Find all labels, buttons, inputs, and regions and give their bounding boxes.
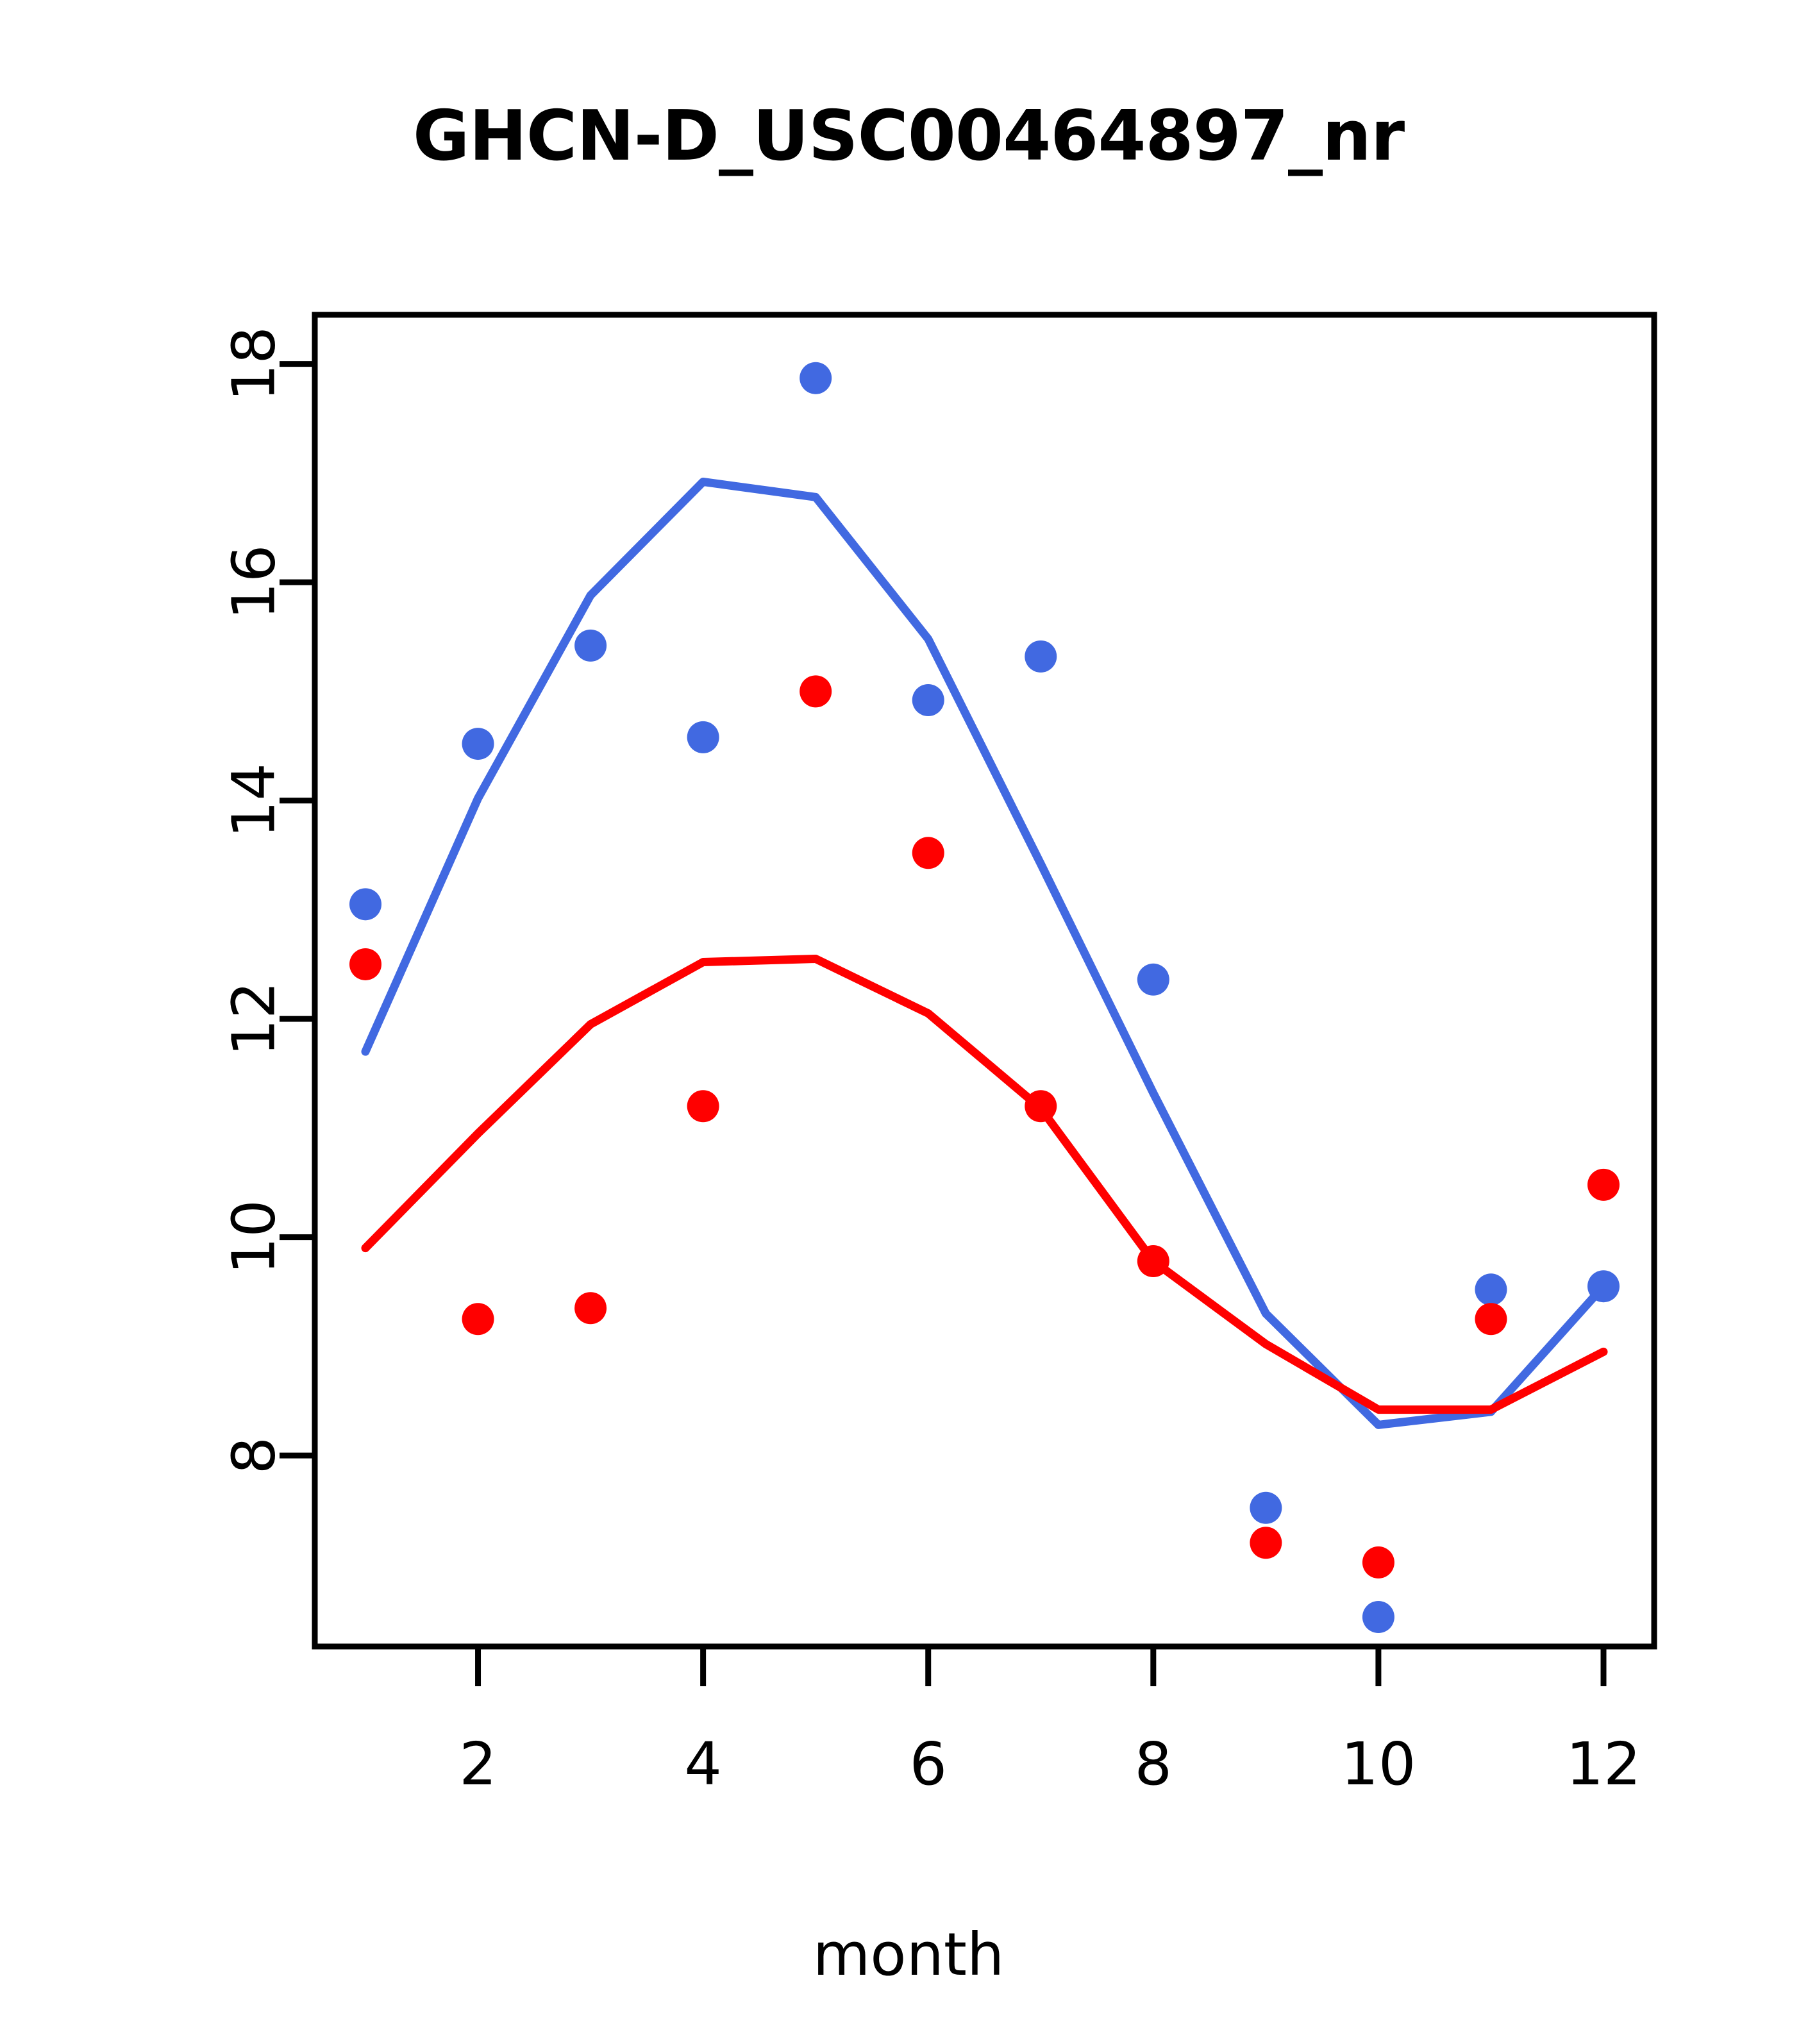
series-points [349,362,1620,1633]
data-point [349,948,381,980]
data-point [1250,1492,1282,1524]
data-point [349,888,381,920]
y-axis-tick-labels: 81012141618 [220,326,289,1474]
x-axis-ticks [478,1646,1603,1686]
data-point [574,1292,607,1324]
x-axis-tick-label: 12 [1566,1730,1641,1798]
x-axis-tick-label: 2 [459,1730,497,1798]
data-point [1137,1245,1169,1277]
data-point [1362,1546,1394,1579]
data-point [687,1090,719,1122]
data-point [800,362,832,394]
data-point [800,675,832,707]
data-point [574,630,607,662]
data-point [1025,1090,1057,1122]
data-point [1362,1601,1394,1633]
data-point [1475,1273,1507,1305]
x-axis-title: month [0,1920,1817,1989]
series-line-blue-line [365,482,1603,1425]
data-point [462,728,494,760]
chart-container: GHCN-D_USC00464897_nr 81012141618 246810… [0,0,1817,2044]
y-axis-tick-label: 16 [220,545,289,620]
x-axis-tick-label: 4 [684,1730,722,1798]
plot-svg: 81012141618 24681012 [0,0,1817,2044]
data-point [1025,641,1057,673]
plot-frame [315,315,1654,1646]
data-point [462,1303,494,1335]
data-point [1475,1303,1507,1335]
data-point [1250,1527,1282,1559]
series-line-red-line [365,959,1603,1409]
data-point [687,721,719,753]
y-axis-tick-label: 12 [220,982,289,1057]
data-point [1587,1270,1620,1302]
data-point [1137,964,1169,996]
y-axis-tick-label: 8 [220,1437,289,1475]
x-axis-tick-label: 10 [1341,1730,1416,1798]
data-point [912,837,944,869]
x-axis-tick-label: 8 [1135,1730,1173,1798]
y-axis-tick-label: 14 [220,763,289,838]
x-axis-tick-labels: 24681012 [459,1730,1641,1798]
data-point [1587,1169,1620,1201]
x-axis-tick-label: 6 [909,1730,947,1798]
data-point [912,684,944,716]
series-lines [365,482,1603,1425]
y-axis-ticks [280,364,315,1455]
y-axis-tick-label: 10 [220,1200,289,1275]
y-axis-tick-label: 18 [220,326,289,401]
